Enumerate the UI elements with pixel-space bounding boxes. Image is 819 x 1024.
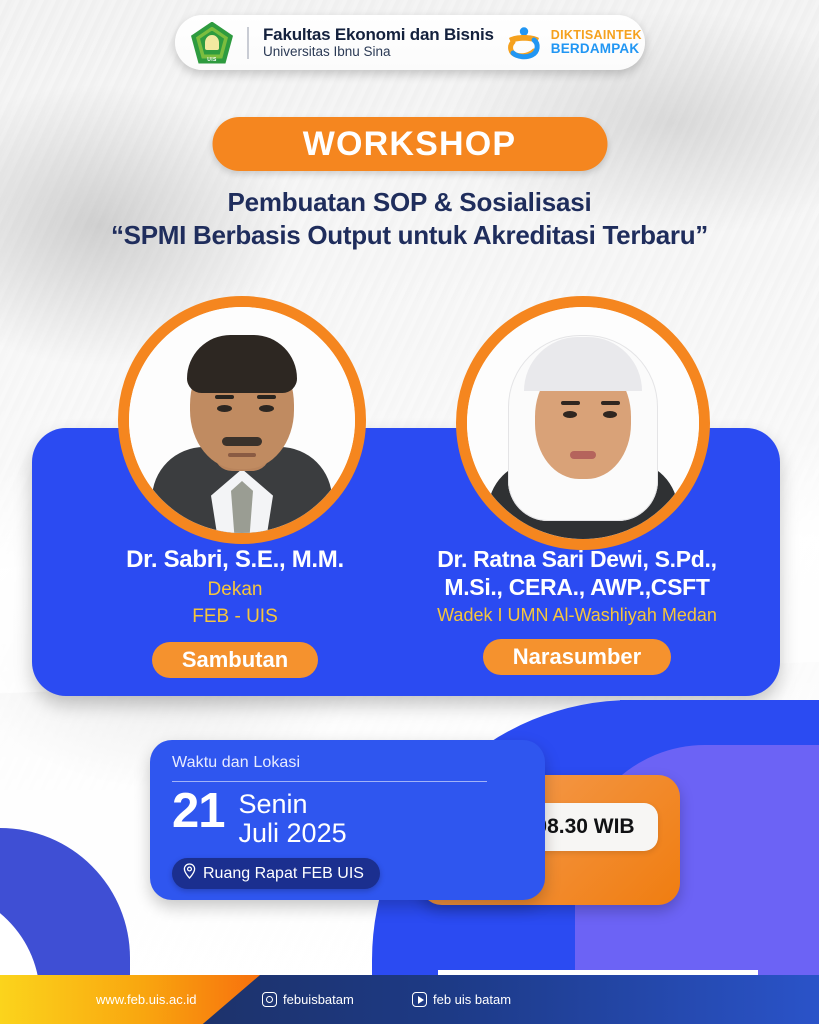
speaker-left-info: Dr. Sabri, S.E., M.M. Dekan FEB - UIS Sa…	[60, 546, 410, 678]
footer-bar: www.feb.uis.ac.id febuisbatam feb uis ba…	[0, 975, 819, 1024]
poster-canvas: UIS Fakultas Ekonomi dan Bisnis Universi…	[0, 0, 819, 1024]
schedule-date-row: 21 Senin Juli 2025	[172, 788, 523, 847]
speaker-left-affiliation: FEB - UIS	[60, 604, 410, 629]
uis-shield-logo-icon: UIS	[191, 22, 233, 64]
speaker-right-role: Wadek I UMN Al-Washliyah Medan	[392, 603, 762, 627]
faculty-line-2: Universitas Ibnu Sina	[263, 44, 494, 59]
subtitle-line-1: Pembuatan SOP & Sosialisasi	[0, 186, 819, 219]
speaker-right-tag: Narasumber	[483, 639, 671, 675]
subtitle-line-2: “SPMI Berbasis Output untuk Akreditasi T…	[0, 219, 819, 252]
speaker-left-tag: Sambutan	[152, 642, 318, 678]
schedule-date-text: Senin Juli 2025	[239, 788, 347, 847]
location-pill: Ruang Rapat FEB UIS	[172, 858, 380, 889]
header-logo-bar: UIS Fakultas Ekonomi dan Bisnis Universi…	[175, 15, 645, 70]
footer-instagram[interactable]: febuisbatam	[262, 992, 354, 1007]
partner-name: DIKTISAINTEK BERDAMPAK	[551, 29, 642, 56]
schedule-rule	[172, 781, 487, 782]
faculty-line-1: Fakultas Ekonomi dan Bisnis	[263, 25, 494, 44]
youtube-play-icon	[412, 992, 427, 1007]
workshop-badge: WORKSHOP	[212, 117, 607, 171]
location-text: Ruang Rapat FEB UIS	[203, 865, 364, 883]
diktisaintek-figure-logo-icon	[504, 25, 544, 61]
schedule-day-name: Senin	[239, 790, 347, 819]
partner-line-2: BERDAMPAK	[551, 42, 642, 56]
footer-youtube[interactable]: feb uis batam	[412, 992, 511, 1007]
footer-youtube-handle: feb uis batam	[433, 992, 511, 1007]
faculty-name: Fakultas Ekonomi dan Bisnis Universitas …	[263, 25, 494, 59]
schedule-heading: Waktu dan Lokasi	[172, 754, 523, 772]
schedule-card: Waktu dan Lokasi 21 Senin Juli 2025 Ruan…	[150, 740, 545, 900]
footer-website[interactable]: www.feb.uis.ac.id	[96, 992, 196, 1007]
speaker-left-role: Dekan	[60, 577, 410, 602]
speaker-right-name-line-2: M.Si., CERA., AWP.,CSFT	[392, 574, 762, 602]
poster-subtitle: Pembuatan SOP & Sosialisasi “SPMI Berbas…	[0, 186, 819, 253]
instagram-icon	[262, 992, 277, 1007]
map-pin-icon	[183, 863, 196, 884]
footer-instagram-handle: febuisbatam	[283, 992, 354, 1007]
speaker-left-name: Dr. Sabri, S.E., M.M.	[60, 546, 410, 575]
header-divider	[247, 27, 249, 59]
speaker-photo-male	[118, 296, 366, 544]
speaker-photo-female	[456, 296, 710, 550]
partner-logo-group: DIKTISAINTEK BERDAMPAK	[504, 25, 642, 61]
uis-logo-text: UIS	[191, 57, 233, 63]
schedule-day-number: 21	[172, 788, 225, 835]
schedule-month-year: Juli 2025	[239, 819, 347, 848]
speaker-right-name-line-1: Dr. Ratna Sari Dewi, S.Pd.,	[392, 546, 762, 574]
speaker-right-info: Dr. Ratna Sari Dewi, S.Pd., M.Si., CERA.…	[392, 546, 762, 675]
